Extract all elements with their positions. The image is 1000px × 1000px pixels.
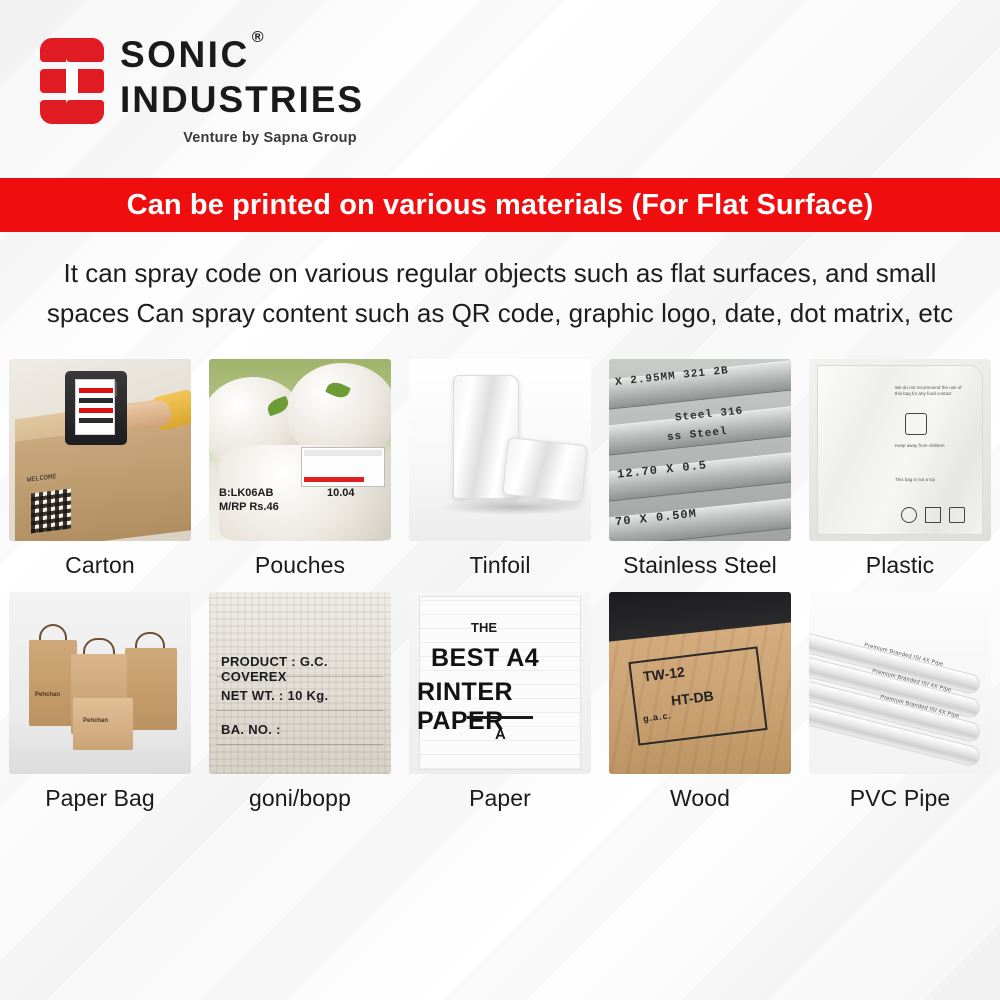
pouch-label-tag <box>301 447 385 487</box>
paper-text-the: THE <box>471 620 497 635</box>
materials-grid-row-2: Pehchan Pehchan Paper Bag PRODUCT : G.C.… <box>0 592 1000 811</box>
paper-grade: A <box>495 726 506 743</box>
material-card-pvc-pipe: Premium Branded ISI 4X Pipe Premium Bran… <box>800 592 1000 811</box>
info-icon <box>925 507 941 523</box>
paper-bag-brand-1: Pehchan <box>35 692 60 698</box>
wood-image: TW-12 HT-DB g.a.c. <box>609 592 791 774</box>
carton-image: WELCOME <box>9 359 191 541</box>
brand-wordmark: SONIC® INDUSTRIES Venture by Sapna Group <box>120 32 420 146</box>
material-caption: Wood <box>670 786 730 811</box>
material-caption: Pouches <box>255 553 345 578</box>
material-card-stainless-steel: X 2.95MM 321 2B Steel 316 ss Steel 12.70… <box>600 359 800 578</box>
pouch-code-text: B:LK06AB M/RP Rs.46 <box>219 487 279 515</box>
goni-text-1: PRODUCT : G.C. COVEREX <box>221 654 391 684</box>
brand-name-line1: SONIC <box>120 34 250 75</box>
material-card-wood: TW-12 HT-DB g.a.c. Wood <box>600 592 800 811</box>
goni-bopp-image: PRODUCT : G.C. COVEREX NET WT. : 10 Kg. … <box>209 592 391 774</box>
warning-icon <box>901 507 917 523</box>
pouches-image: B:LK06AB M/RP Rs.46 10.04 <box>209 359 391 541</box>
material-caption: Carton <box>65 553 135 578</box>
recycle-badge-icon <box>905 413 927 435</box>
material-caption: Plastic <box>866 553 934 578</box>
material-card-plastic: We do not recommend the use of this bag … <box>800 359 1000 578</box>
plastic-warning-1: We do not recommend the use of this bag … <box>895 385 965 397</box>
sonic-s-logo-icon <box>40 38 104 124</box>
material-card-tinfoil: Tinfoil <box>400 359 600 578</box>
poster-page: SONIC® INDUSTRIES Venture by Sapna Group… <box>0 0 1000 1000</box>
pvc-pipe-image: Premium Branded ISI 4X Pipe Premium Bran… <box>809 592 991 774</box>
material-card-pouches: B:LK06AB M/RP Rs.46 10.04 Pouches <box>200 359 400 578</box>
material-caption: Stainless Steel <box>623 553 777 578</box>
material-card-goni-bopp: PRODUCT : G.C. COVEREX NET WT. : 10 Kg. … <box>200 592 400 811</box>
pouch-time-text: 10.04 <box>327 487 355 499</box>
recycle-icon <box>949 507 965 523</box>
brand-header: SONIC® INDUSTRIES Venture by Sapna Group <box>0 0 1000 178</box>
brand-tagline: Venture by Sapna Group <box>120 130 420 146</box>
material-caption: Paper <box>469 786 531 811</box>
material-caption: PVC Pipe <box>850 786 951 811</box>
headline-text: Can be printed on various materials (For… <box>127 189 874 222</box>
plastic-warning-2: Keep away from children <box>895 443 965 449</box>
material-caption: Paper Bag <box>45 786 155 811</box>
materials-grid-row-1: WELCOME Carton B:LK06 <box>0 359 1000 578</box>
goni-text-3: BA. NO. : <box>221 722 281 737</box>
brand-name-line2: INDUSTRIES <box>120 79 420 120</box>
material-caption: goni/bopp <box>249 786 351 811</box>
carton-qr-code-icon <box>31 489 71 534</box>
registered-mark: ® <box>252 29 266 46</box>
paper-bag-image: Pehchan Pehchan <box>9 592 191 774</box>
stainless-steel-image: X 2.95MM 321 2B Steel 316 ss Steel 12.70… <box>609 359 791 541</box>
paper-image: THE BEST A4 RINTER PAPER A <box>409 592 591 774</box>
paper-bag-brand-2: Pehchan <box>83 718 108 724</box>
goni-text-2: NET WT. : 10 Kg. <box>221 688 328 703</box>
material-card-paper: THE BEST A4 RINTER PAPER A Paper <box>400 592 600 811</box>
paper-text-1: BEST A4 <box>431 644 539 673</box>
material-card-carton: WELCOME Carton <box>0 359 200 578</box>
plastic-warning-3: This bag is not a toy <box>895 477 965 483</box>
tinfoil-image <box>409 359 591 541</box>
material-card-paper-bag: Pehchan Pehchan Paper Bag <box>0 592 200 811</box>
plastic-image: We do not recommend the use of this bag … <box>809 359 991 541</box>
headline-banner: Can be printed on various materials (For… <box>0 178 1000 232</box>
material-caption: Tinfoil <box>469 553 530 578</box>
description-text: It can spray code on various regular obj… <box>25 254 975 333</box>
